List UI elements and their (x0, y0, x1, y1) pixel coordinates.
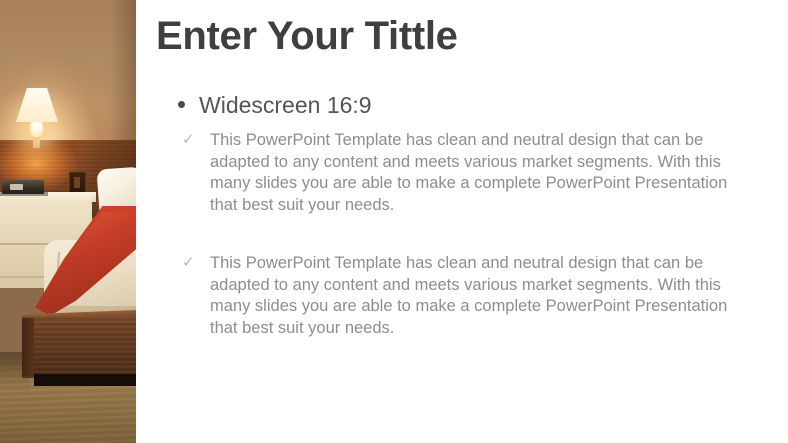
bed-frame-left-face (22, 318, 34, 376)
light-switch-plate (69, 172, 86, 194)
clock-radio (2, 180, 44, 194)
section-heading-row: Widescreen 16:9 (178, 92, 372, 119)
bed-frame-grain (22, 316, 136, 378)
bullet-paragraph-1: ✓ This PowerPoint Template has clean and… (182, 130, 764, 216)
paragraph-text: This PowerPoint Template has clean and n… (210, 253, 758, 339)
bullet-icon (178, 101, 185, 108)
lamp-glow-fan (2, 8, 112, 158)
check-icon: ✓ (182, 253, 196, 339)
paragraph-text: This PowerPoint Template has clean and n… (210, 130, 758, 216)
slide: Enter Your Tittle Widescreen 16:9 ✓ This… (0, 0, 788, 443)
section-heading: Widescreen 16:9 (199, 92, 372, 119)
check-icon: ✓ (182, 130, 196, 216)
bedroom-photo (0, 0, 136, 443)
bullet-paragraph-2: ✓ This PowerPoint Template has clean and… (182, 253, 764, 339)
wood-bed-frame (22, 316, 136, 378)
bed-frame-shadow (34, 374, 136, 386)
wall-corner-shadow (110, 0, 136, 160)
slide-content: Enter Your Tittle Widescreen 16:9 ✓ This… (136, 0, 788, 443)
page-title: Enter Your Tittle (156, 14, 458, 59)
